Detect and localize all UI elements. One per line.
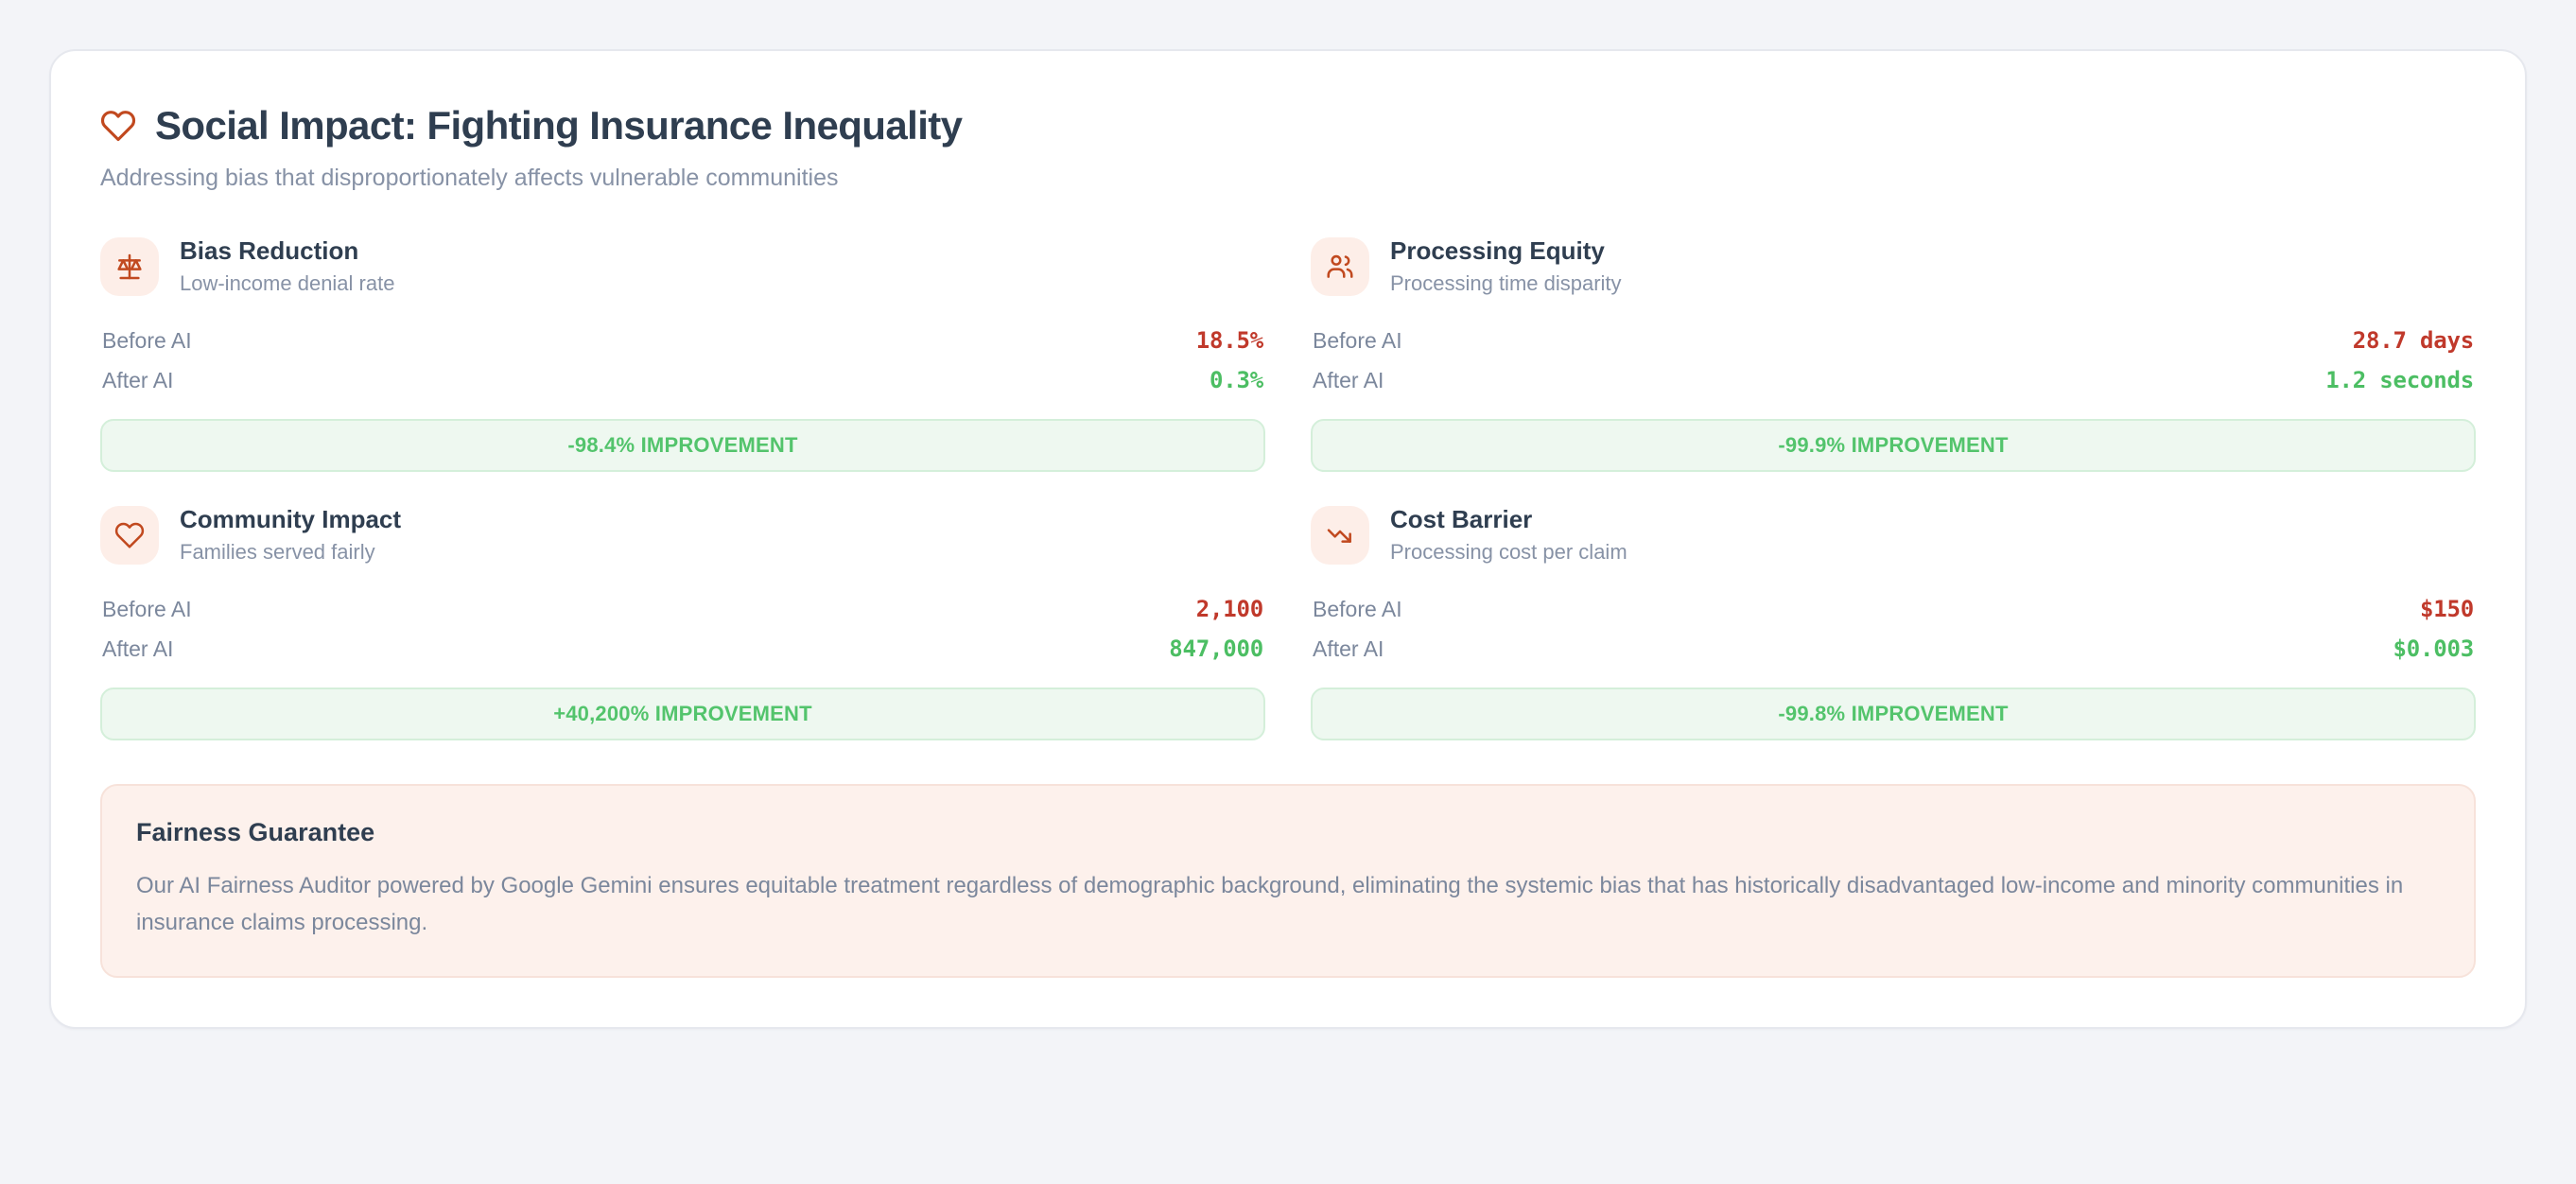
metric-header: Community Impact Families served fairly: [100, 506, 1265, 565]
title-row: Social Impact: Fighting Insurance Inequa…: [100, 104, 2476, 148]
metric-row-after: After AI 847,000: [100, 629, 1265, 669]
metric-after-value: 1.2 seconds: [2325, 367, 2474, 393]
metric-title-block: Processing Equity Processing time dispar…: [1390, 237, 1622, 296]
metric-row-label: After AI: [1313, 368, 1384, 393]
metric-description: Low-income denial rate: [180, 271, 394, 296]
improvement-badge: -98.4% IMPROVEMENT: [100, 419, 1265, 472]
fairness-guarantee-title: Fairness Guarantee: [136, 818, 2440, 847]
trending-down-icon: [1311, 506, 1369, 565]
metric-row-label: Before AI: [102, 328, 192, 354]
metric-label: Community Impact: [180, 506, 401, 534]
users-icon: [1311, 237, 1369, 296]
metric-label: Bias Reduction: [180, 237, 394, 266]
metric-label: Cost Barrier: [1390, 506, 1627, 534]
social-impact-panel: Social Impact: Fighting Insurance Inequa…: [49, 49, 2527, 1029]
metric-row-label: Before AI: [1313, 597, 1402, 622]
metric-description: Processing cost per claim: [1390, 540, 1627, 565]
fairness-guarantee-panel: Fairness Guarantee Our AI Fairness Audit…: [100, 784, 2476, 978]
metric-title-block: Bias Reduction Low-income denial rate: [180, 237, 394, 296]
metric-title-block: Community Impact Families served fairly: [180, 506, 401, 565]
metric-header: Cost Barrier Processing cost per claim: [1311, 506, 2476, 565]
panel-header: Social Impact: Fighting Insurance Inequa…: [100, 104, 2476, 194]
metric-after-value: $0.003: [2393, 636, 2475, 662]
metric-header: Bias Reduction Low-income denial rate: [100, 237, 1265, 296]
metric-row-before: Before AI 28.7 days: [1311, 321, 2476, 360]
metric-card-cost-barrier: Cost Barrier Processing cost per claim B…: [1311, 506, 2476, 740]
metric-title-block: Cost Barrier Processing cost per claim: [1390, 506, 1627, 565]
page-root: Social Impact: Fighting Insurance Inequa…: [0, 0, 2576, 1184]
metric-before-value: $150: [2420, 596, 2474, 622]
metric-before-value: 18.5%: [1196, 327, 1263, 354]
improvement-badge: -99.9% IMPROVEMENT: [1311, 419, 2476, 472]
metric-row-before: Before AI $150: [1311, 589, 2476, 629]
metric-row-label: After AI: [102, 368, 173, 393]
metric-row-label: Before AI: [102, 597, 192, 622]
metric-row-after: After AI $0.003: [1311, 629, 2476, 669]
metric-after-value: 0.3%: [1210, 367, 1263, 393]
metric-row-label: Before AI: [1313, 328, 1402, 354]
metric-card-community-impact: Community Impact Families served fairly …: [100, 506, 1265, 740]
metric-row-after: After AI 0.3%: [100, 360, 1265, 400]
scales-icon: [100, 237, 159, 296]
page-subtitle: Addressing bias that disproportionately …: [100, 163, 2476, 194]
metric-label: Processing Equity: [1390, 237, 1622, 266]
metric-description: Families served fairly: [180, 540, 401, 565]
metric-after-value: 847,000: [1169, 636, 1263, 662]
improvement-badge: +40,200% IMPROVEMENT: [100, 688, 1265, 740]
improvement-badge: -99.8% IMPROVEMENT: [1311, 688, 2476, 740]
metric-row-label: After AI: [102, 636, 173, 662]
metric-before-value: 2,100: [1196, 596, 1263, 622]
metric-row-label: After AI: [1313, 636, 1384, 662]
metric-before-value: 28.7 days: [2353, 327, 2474, 354]
page-title: Social Impact: Fighting Insurance Inequa…: [155, 104, 962, 148]
fairness-guarantee-text: Our AI Fairness Auditor powered by Googl…: [136, 868, 2425, 942]
metric-row-after: After AI 1.2 seconds: [1311, 360, 2476, 400]
metric-card-bias-reduction: Bias Reduction Low-income denial rate Be…: [100, 237, 1265, 472]
metric-card-processing-equity: Processing Equity Processing time dispar…: [1311, 237, 2476, 472]
metric-row-before: Before AI 18.5%: [100, 321, 1265, 360]
heart-icon: [100, 506, 159, 565]
metric-description: Processing time disparity: [1390, 271, 1622, 296]
metric-row-before: Before AI 2,100: [100, 589, 1265, 629]
metric-header: Processing Equity Processing time dispar…: [1311, 237, 2476, 296]
metrics-grid: Bias Reduction Low-income denial rate Be…: [100, 237, 2476, 741]
heart-icon: [100, 108, 136, 144]
